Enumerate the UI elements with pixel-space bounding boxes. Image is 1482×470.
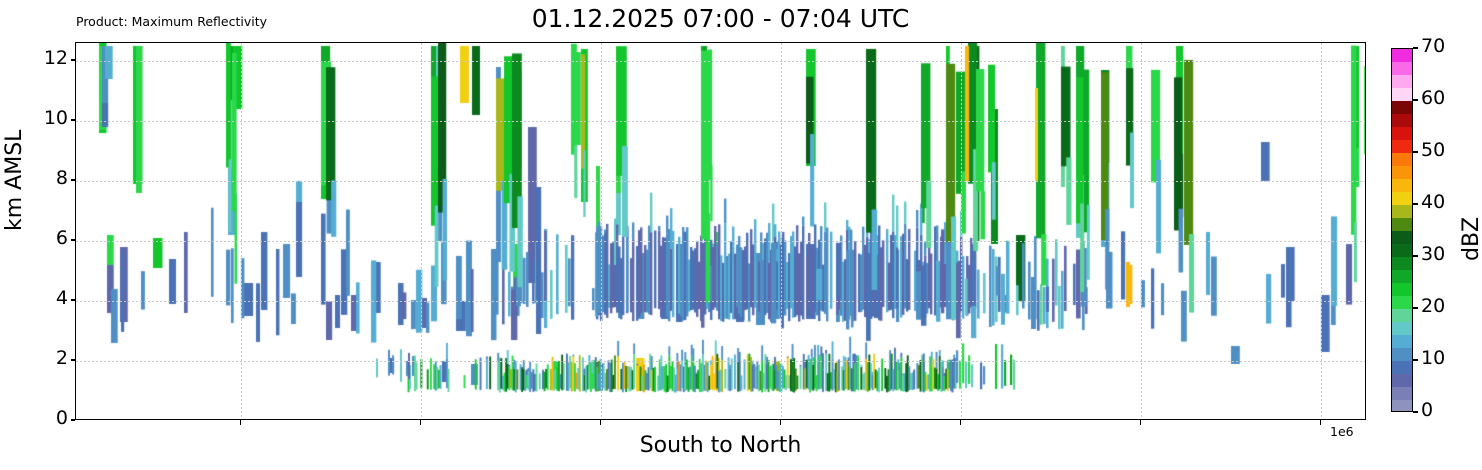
- y-tick-mark: [71, 119, 76, 120]
- y-tick-label: 2: [28, 347, 68, 369]
- colorbar-band: [1392, 361, 1412, 374]
- colorbar-band: [1392, 400, 1412, 412]
- colorbar-band: [1392, 205, 1412, 218]
- colorbar-band: [1392, 153, 1412, 166]
- colorbar-band: [1392, 218, 1412, 231]
- colorbar-tick-label: 10: [1421, 347, 1445, 369]
- y-tick-mark: [71, 59, 76, 60]
- colorbar-tick-label: 70: [1421, 35, 1445, 57]
- x-tick-mark: [960, 420, 961, 425]
- colorbar-band: [1392, 335, 1412, 348]
- colorbar-tick-mark: [1413, 203, 1418, 204]
- colorbar-tick-label: 30: [1421, 243, 1445, 265]
- y-tick-mark: [71, 179, 76, 180]
- y-tick-label: 6: [28, 227, 68, 249]
- x-tick-mark: [1320, 420, 1321, 425]
- colorbar-label: dBZ: [1459, 217, 1482, 261]
- x-tick-mark: [780, 420, 781, 425]
- colorbar-band: [1392, 270, 1412, 283]
- page-title: 01.12.2025 07:00 - 07:04 UTC: [75, 4, 1366, 33]
- gridline-horizontal: [76, 121, 1365, 122]
- colorbar-tick-label: 20: [1421, 295, 1445, 317]
- gridline-vertical: [421, 43, 422, 419]
- y-tick-label: 0: [28, 407, 68, 429]
- gridline-vertical: [961, 43, 962, 419]
- colorbar-tick-label: 0: [1421, 399, 1433, 421]
- colorbar-tick-mark: [1413, 411, 1418, 412]
- reflectivity-heatmap-canvas: [76, 43, 1366, 420]
- product-annotation: Product: Maximum Reflectivity: [76, 14, 267, 29]
- colorbar-band: [1392, 374, 1412, 387]
- gridline-vertical: [601, 43, 602, 419]
- gridline-vertical: [781, 43, 782, 419]
- colorbar-band: [1392, 296, 1412, 309]
- x-axis-offset-label: 1e6: [1330, 424, 1354, 439]
- gridline-horizontal: [76, 361, 1365, 362]
- gridline-horizontal: [76, 61, 1365, 62]
- colorbar-band: [1392, 322, 1412, 335]
- gridline-horizontal: [76, 181, 1365, 182]
- y-tick-mark: [71, 239, 76, 240]
- colorbar-band: [1392, 166, 1412, 179]
- radar-reflectivity-figure: 01.12.2025 07:00 - 07:04 UTC Product: Ma…: [0, 0, 1482, 470]
- gridline-vertical: [1321, 43, 1322, 419]
- colorbar: [1391, 48, 1413, 412]
- y-tick-label: 10: [28, 107, 68, 129]
- x-axis-label: South to North: [75, 433, 1366, 458]
- plot-area: [75, 42, 1366, 420]
- colorbar-tick-label: 40: [1421, 191, 1445, 213]
- colorbar-band: [1392, 62, 1412, 75]
- colorbar-tick-mark: [1413, 47, 1418, 48]
- colorbar-band: [1392, 127, 1412, 140]
- colorbar-band: [1392, 114, 1412, 127]
- y-tick-label: 8: [28, 167, 68, 189]
- colorbar-band: [1392, 231, 1412, 244]
- x-tick-mark: [1140, 420, 1141, 425]
- y-tick-label: 4: [28, 287, 68, 309]
- colorbar-band: [1392, 244, 1412, 257]
- gridline-horizontal: [76, 241, 1365, 242]
- y-axis-label: km AMSL: [2, 130, 27, 231]
- colorbar-band: [1392, 140, 1412, 153]
- colorbar-band: [1392, 257, 1412, 270]
- colorbar-band: [1392, 192, 1412, 205]
- x-tick-mark: [240, 420, 241, 425]
- gridline-vertical: [241, 43, 242, 419]
- colorbar-band: [1392, 387, 1412, 400]
- y-tick-mark: [71, 359, 76, 360]
- x-tick-mark: [420, 420, 421, 425]
- colorbar-band: [1392, 88, 1412, 101]
- gridline-horizontal: [76, 301, 1365, 302]
- colorbar-tick-mark: [1413, 255, 1418, 256]
- gridline-vertical: [1141, 43, 1142, 419]
- colorbar-band: [1392, 283, 1412, 296]
- y-tick-label: 12: [28, 47, 68, 69]
- y-tick-mark: [71, 419, 76, 420]
- colorbar-tick-label: 60: [1421, 87, 1445, 109]
- colorbar-tick-mark: [1413, 359, 1418, 360]
- colorbar-band: [1392, 49, 1412, 62]
- colorbar-band: [1392, 75, 1412, 88]
- colorbar-tick-label: 50: [1421, 139, 1445, 161]
- x-tick-mark: [600, 420, 601, 425]
- colorbar-band: [1392, 348, 1412, 361]
- colorbar-tick-mark: [1413, 151, 1418, 152]
- colorbar-band: [1392, 309, 1412, 322]
- colorbar-tick-mark: [1413, 99, 1418, 100]
- colorbar-gradient: [1391, 48, 1413, 412]
- colorbar-band: [1392, 101, 1412, 114]
- colorbar-band: [1392, 179, 1412, 192]
- y-tick-mark: [71, 299, 76, 300]
- colorbar-tick-mark: [1413, 307, 1418, 308]
